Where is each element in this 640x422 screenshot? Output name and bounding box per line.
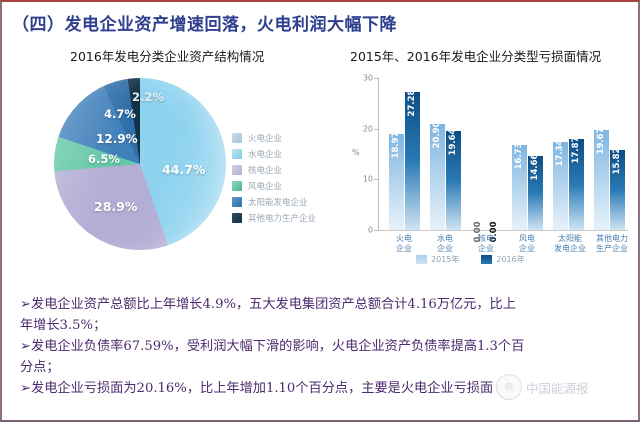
pie-label-taiyang: 4.7% [104, 107, 136, 121]
bar-group-huodian: 18.97 27.28 [386, 92, 422, 230]
bar-group-fengdian: 16.73 14.66 [509, 145, 545, 230]
legend-swatch-icon [232, 133, 242, 143]
bar-2015[interactable]: 0.00 [471, 229, 486, 230]
bar-2015[interactable]: 17.34 [553, 142, 568, 230]
bar-2016[interactable]: 17.87 [569, 139, 584, 230]
body-line-3: ➢发电企业负债率67.59%，受利润大幅下滑的影响，火电企业资产负债率提高1.3… [20, 336, 632, 357]
legend-label: 其他电力生产企业 [248, 212, 316, 224]
y-tick-10: 10 [363, 175, 373, 184]
legend-swatch-icon [232, 213, 242, 223]
legend-label: 太阳能发电企业 [248, 196, 308, 208]
legend-label: 火电企业 [248, 132, 282, 144]
legend-item-qita: 其他电力生产企业 [232, 210, 316, 226]
pie-chart: 44.7% 28.9% 6.5% 12.9% 4.7% 2.2% [48, 74, 230, 262]
pie-chart-legend: 火电企业 水电企业 核电企业 风电企业 太阳能发电企业 其他电力生产企业 [232, 130, 316, 226]
bar-plot-area: % 0 10 20 30 18.97 27.28 20.90 19.64 0.0… [378, 78, 628, 230]
legend-swatch-icon [232, 149, 242, 159]
bar-2015[interactable]: 19.67 [594, 130, 609, 230]
y-axis-line [378, 78, 379, 230]
slide-canvas: （四）发电企业资产增速回落，火电利润大幅下降 2016年发电分类企业资产结构情况… [0, 0, 640, 422]
y-tick-0: 0 [368, 226, 373, 235]
legend-label: 水电企业 [248, 148, 282, 160]
legend-swatch-icon [232, 181, 242, 191]
legend-swatch-icon [232, 165, 242, 175]
bar-2016[interactable]: 14.66 [528, 156, 543, 230]
bar-2016[interactable]: 27.28 [405, 92, 420, 230]
legend-swatch-icon [232, 197, 242, 207]
y-tick-30: 30 [363, 74, 373, 83]
y-axis-label: % [352, 148, 360, 157]
pie-label-huodian: 44.7% [162, 162, 205, 177]
bar-group-hedian: 0.00 0.00 [468, 229, 504, 230]
bar-group-qita: 19.67 15.82 [591, 130, 627, 230]
bar-chart-title: 2015年、2016年发电企业分类型亏损面情况 [350, 46, 601, 65]
pie-label-fengdian: 12.9% [96, 132, 138, 146]
legend-label: 风电企业 [248, 180, 282, 192]
pie-label-shuidian: 28.9% [94, 199, 137, 214]
bar-chart-legend: 2015年 2016年 [416, 254, 525, 265]
bar-chart: % 0 10 20 30 18.97 27.28 20.90 19.64 0.0… [346, 68, 638, 268]
body-text-block: ➢发电企业资产总额比上年增长4.9%，五大发电集团资产总额合计4.16万亿元，比… [20, 294, 632, 399]
page-title: （四）发电企业资产增速回落，火电利润大幅下降 [12, 10, 397, 35]
bar-2016[interactable]: 15.82 [610, 150, 625, 230]
legend-item-2015: 2015年 [416, 254, 459, 265]
legend-swatch-icon [481, 255, 492, 264]
pie-chart-title: 2016年发电分类企业资产结构情况 [70, 46, 264, 65]
x-axis-line [378, 230, 628, 231]
bar-2015[interactable]: 16.73 [512, 145, 527, 230]
pie-label-hedian: 6.5% [88, 152, 120, 166]
body-line-1: ➢发电企业资产总额比上年增长4.9%，五大发电集团资产总额合计4.16万亿元，比… [20, 294, 632, 315]
x-label-qita: 其他电力 生产企业 [581, 234, 640, 254]
bar-2015[interactable]: 20.90 [430, 124, 445, 230]
pie-label-qita: 2.2% [132, 90, 164, 104]
body-line-4: 分点； [20, 357, 632, 378]
legend-label: 核电企业 [248, 164, 282, 176]
legend-item-hedian: 核电企业 [232, 162, 316, 178]
legend-label: 2015年 [431, 254, 459, 265]
bar-2016[interactable]: 19.64 [446, 131, 461, 231]
legend-label: 2016年 [496, 254, 524, 265]
legend-swatch-icon [416, 255, 427, 264]
legend-item-taiyangneng: 太阳能发电企业 [232, 194, 316, 210]
legend-item-shuidian: 水电企业 [232, 146, 316, 162]
legend-item-huodian: 火电企业 [232, 130, 316, 146]
bar-2015[interactable]: 18.97 [389, 134, 404, 230]
bar-group-taiyangneng: 17.34 17.87 [550, 139, 586, 230]
legend-item-fengdian: 风电企业 [232, 178, 316, 194]
body-line-5: ➢发电企业亏损面为20.16%，比上年增加1.10个百分点，主要是火电企业亏损面 [20, 378, 632, 399]
bar-2016[interactable]: 0.00 [487, 229, 502, 230]
bar-group-shuidian: 20.90 19.64 [427, 124, 463, 230]
body-line-2: 年增长3.5%； [20, 315, 632, 336]
legend-item-2016: 2016年 [481, 254, 524, 265]
y-tick-20: 20 [363, 124, 373, 133]
